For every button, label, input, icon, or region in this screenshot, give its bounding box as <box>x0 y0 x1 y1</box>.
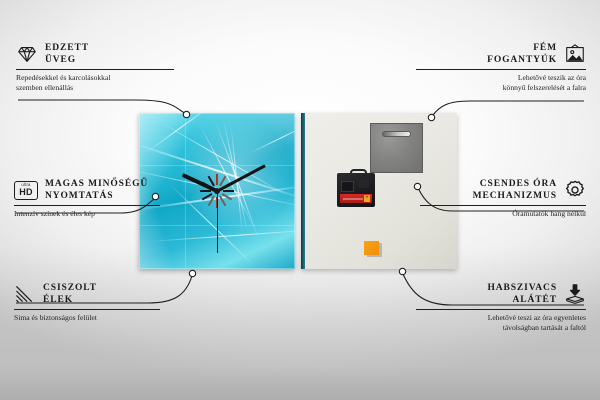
feature-silent-mechanism: CSENDES ÓRA MECHANIZMUS Óramutatók hang … <box>418 178 586 219</box>
diamond-icon <box>16 43 38 65</box>
battery-plus-marker: + <box>364 195 370 202</box>
feature-divider <box>16 69 174 70</box>
quartz-clock-mechanism: + <box>337 169 375 207</box>
feature-divider <box>14 309 160 310</box>
gear-icon <box>564 179 586 201</box>
metal-hanger-plate <box>370 123 423 173</box>
feature-description: Intenzív színek és éles kép <box>14 209 164 219</box>
feature-tempered-glass: EDZETT ÜVEG Repedésekkel és karcolásokka… <box>16 42 176 92</box>
feature-polished-edges: CSISZOLT ÉLEK Sima és biztonságos felüle… <box>14 282 164 323</box>
feature-title: CSISZOLT ÉLEK <box>43 282 97 306</box>
feature-divider <box>420 205 586 206</box>
picture-frame-hanger-icon <box>564 43 586 65</box>
feature-title: CSENDES ÓRA MECHANIZMUS <box>473 178 557 202</box>
feature-high-quality-print: ultra HD MAGAS MINŐSÉGŰ NYOMTATÁS Intenz… <box>14 178 164 219</box>
feature-description: Lehetővé teszi az óra egyenletes távolsá… <box>414 313 586 332</box>
battery-label: + <box>340 194 372 203</box>
feature-title: HABSZIVACS ALÁTÉT <box>487 282 557 306</box>
feature-description: Repedésekkel és karcolásokkal szemben el… <box>16 73 176 92</box>
feature-description: Sima és biztonságos felület <box>14 313 164 323</box>
polished-edge-icon <box>14 283 36 305</box>
hanger-keyhole-slot <box>382 131 411 137</box>
badge-hd-label: HD <box>19 188 33 197</box>
product-infographic-poster: + EDZETT ÜVEG Repedésekkel és karcolások… <box>0 0 600 400</box>
feature-description: Óramutatók hang nélkül <box>418 209 586 219</box>
orange-foam-pad <box>364 241 379 255</box>
feature-divider <box>14 205 160 206</box>
glass-edge <box>301 113 305 269</box>
feature-title: FÉM FOGANTYÚK <box>487 42 557 66</box>
feature-metal-handles: FÉM FOGANTYÚK Lehetővé teszik az óra kön… <box>414 42 586 92</box>
feature-divider <box>416 69 586 70</box>
feature-description: Lehetővé teszik az óra könnyű felszerelé… <box>414 73 586 92</box>
ultra-hd-badge-icon: ultra HD <box>14 181 38 200</box>
arrow-down-pad-icon <box>564 283 586 305</box>
feature-divider <box>416 309 586 310</box>
feature-title: EDZETT ÜVEG <box>45 42 89 66</box>
feature-title: MAGAS MINŐSÉGŰ NYOMTATÁS <box>45 178 148 202</box>
feature-foam-underlay: HABSZIVACS ALÁTÉT Lehetővé teszi az óra … <box>414 282 586 332</box>
product-images: + <box>139 113 457 269</box>
